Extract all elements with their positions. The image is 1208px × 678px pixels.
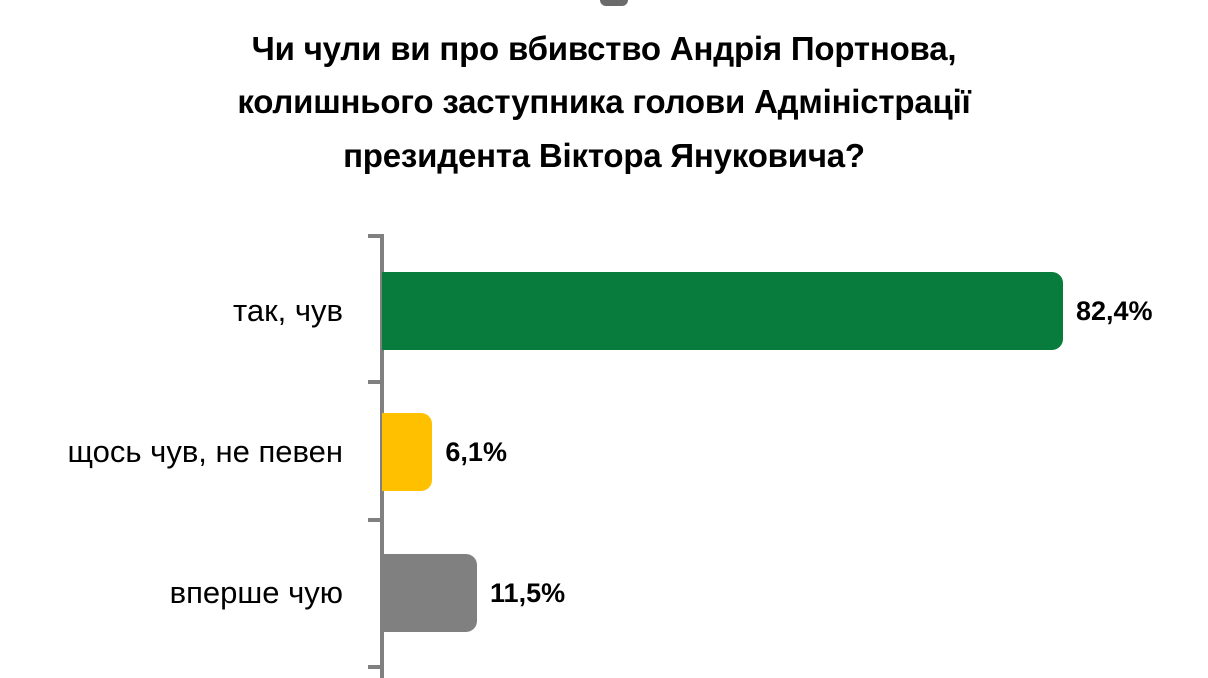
chart-title-line-3: президента Віктора Януковича? xyxy=(60,129,1148,182)
axis-tick-0 xyxy=(368,234,384,238)
bar-group-1: 6,1% xyxy=(382,413,507,491)
category-label-1: щось чув, не певен xyxy=(0,413,343,491)
bar-value-label-1: 6,1% xyxy=(445,437,507,468)
bar-1[interactable] xyxy=(382,413,432,491)
bar-row-0: так, чув 82,4% xyxy=(0,272,1208,350)
axis-tick-2 xyxy=(368,518,384,522)
category-label-0: так, чув xyxy=(0,272,343,350)
axis-tick-1 xyxy=(368,380,384,384)
bar-group-0: 82,4% xyxy=(382,272,1153,350)
bar-value-label-0: 82,4% xyxy=(1076,296,1153,327)
chart-title-line-2: колишнього заступника голови Адміністрац… xyxy=(60,75,1148,128)
chart-plot-area: так, чув 82,4% щось чув, не певен 6,1% в… xyxy=(0,210,1208,676)
bar-row-2: вперше чую 11,5% xyxy=(0,554,1208,632)
bar-2[interactable] xyxy=(382,554,477,632)
axis-tick-3 xyxy=(368,665,384,669)
bar-group-2: 11,5% xyxy=(382,554,565,632)
bar-row-1: щось чув, не певен 6,1% xyxy=(0,413,1208,491)
category-label-2: вперше чую xyxy=(0,554,343,632)
bar-value-label-2: 11,5% xyxy=(490,578,565,609)
chart-title: Чи чули ви про вбивство Андрія Портнова,… xyxy=(60,22,1148,182)
top-edge-nub xyxy=(600,0,628,6)
bar-0[interactable] xyxy=(382,272,1063,350)
chart-title-line-1: Чи чули ви про вбивство Андрія Портнова, xyxy=(60,22,1148,75)
